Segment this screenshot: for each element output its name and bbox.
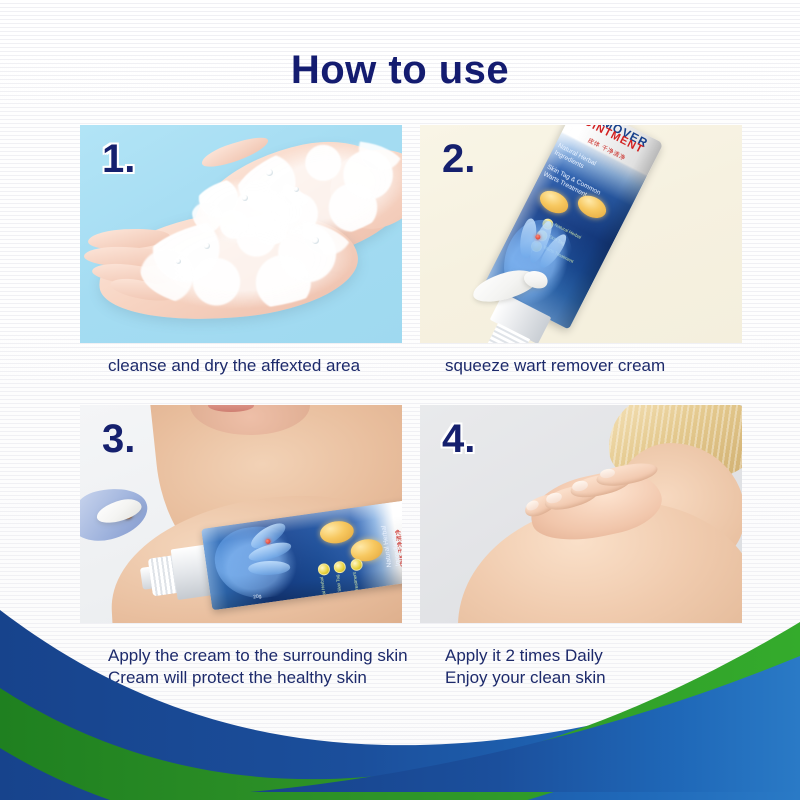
ingredient-blob: [536, 186, 572, 217]
step-number-4: 4.: [442, 419, 475, 459]
step-panel-1: 1.: [80, 125, 402, 343]
ingredient-blob: [319, 519, 356, 546]
step-caption-1: cleanse and dry the affexted area: [108, 355, 408, 377]
poster-canvas: How to use 1. REMOVER OINTMENT 疣体 千净清净 N…: [0, 0, 800, 800]
soap-bubble: [294, 187, 299, 192]
step-caption-2: squeeze wart remover cream: [445, 355, 745, 377]
page-title: How to use: [0, 48, 800, 93]
step-number-1: 1.: [102, 139, 135, 179]
step-panel-2: REMOVER OINTMENT 疣体 千净清净 Natural Herbal …: [420, 125, 742, 343]
soap-bubble: [242, 195, 248, 201]
soap-bubble: [266, 169, 273, 176]
step-number-2: 2.: [442, 139, 475, 179]
footer-swoosh-decoration: [0, 570, 800, 800]
tube-tagline: Natural Herbal Ingredients Skin Tag & Co…: [378, 501, 402, 567]
soap-bubble: [204, 243, 210, 249]
product-tube-vertical: REMOVER OINTMENT 疣体 千净清净 Natural Herbal …: [456, 125, 663, 343]
soap-bubble: [312, 237, 319, 244]
step-number-3: 3.: [102, 419, 135, 459]
soap-bubble: [176, 259, 181, 264]
